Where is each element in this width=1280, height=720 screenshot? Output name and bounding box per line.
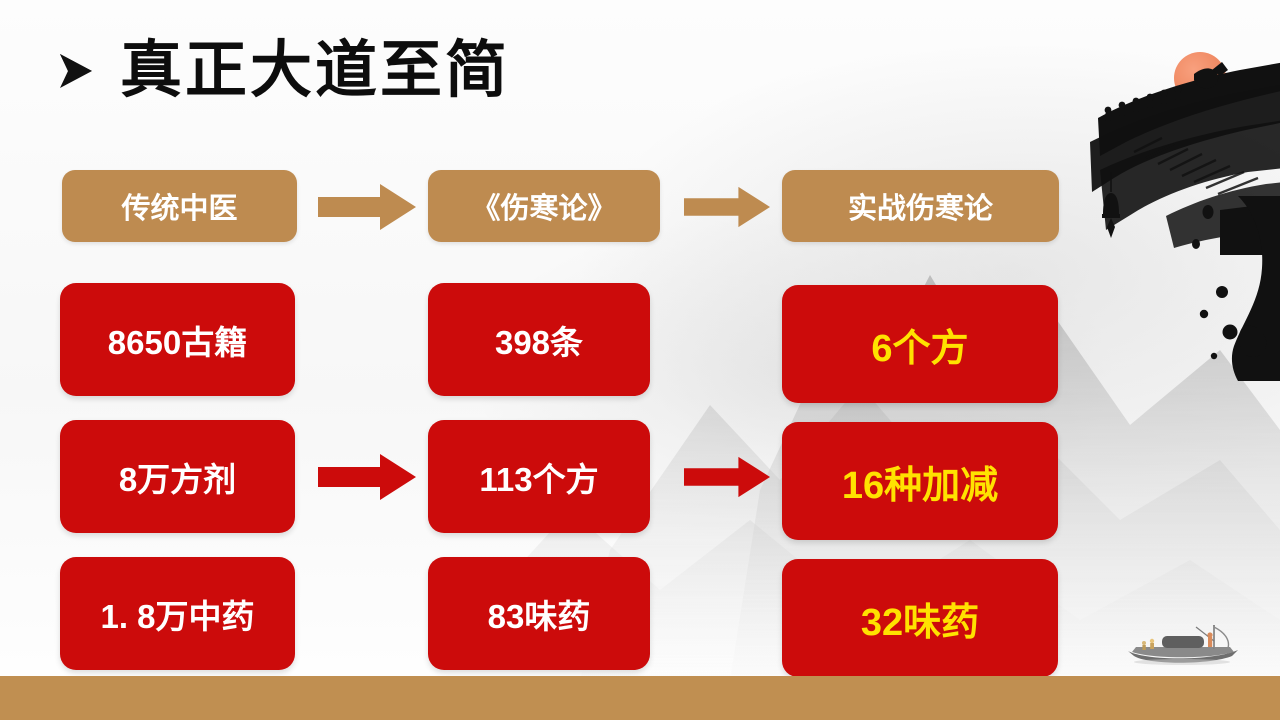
header-box-traditional-tcm[interactable]: 传统中医: [62, 170, 297, 242]
header-box-shanghanlun[interactable]: 《伤寒论》: [428, 170, 660, 242]
cell-113-formulas[interactable]: 113个方: [428, 420, 650, 533]
cell-83-herbs[interactable]: 83味药: [428, 557, 650, 670]
cell-ancient-books[interactable]: 8650古籍: [60, 283, 295, 396]
cell-16-modifications[interactable]: 16种加减: [782, 422, 1058, 540]
arrow-bullet-icon: [56, 50, 96, 92]
temple-roof-illustration: [1070, 60, 1280, 255]
bottom-color-band: [0, 676, 1280, 720]
cell-18k-herbs[interactable]: 1. 8万中药: [60, 557, 295, 670]
cell-80k-prescriptions[interactable]: 8万方剂: [60, 420, 295, 533]
hanging-bell-icon: [1096, 172, 1126, 238]
page-title: 真正大道至简: [120, 40, 510, 102]
cell-398-clauses[interactable]: 398条: [428, 283, 650, 396]
cell-32-herbs[interactable]: 32味药: [782, 559, 1058, 677]
page-title-row: 真正大道至简: [56, 26, 510, 116]
header-arrow-1: [318, 184, 416, 230]
header-box-practical-shanghanlun[interactable]: 实战伤寒论: [782, 170, 1059, 242]
slide-canvas: 真正大道至简 传统中医 《伤寒论》 实战伤寒论 8650古籍 398条 6个方 …: [0, 0, 1280, 720]
cell-6-formulas[interactable]: 6个方: [782, 285, 1058, 403]
sun-icon: [1174, 52, 1226, 104]
sailing-boat-illustration: [1122, 623, 1250, 668]
header-arrow-2: [684, 184, 770, 230]
ink-splash-illustration: [1178, 196, 1280, 381]
row-arrow-2: [684, 454, 770, 500]
row-arrow-1: [318, 454, 416, 500]
